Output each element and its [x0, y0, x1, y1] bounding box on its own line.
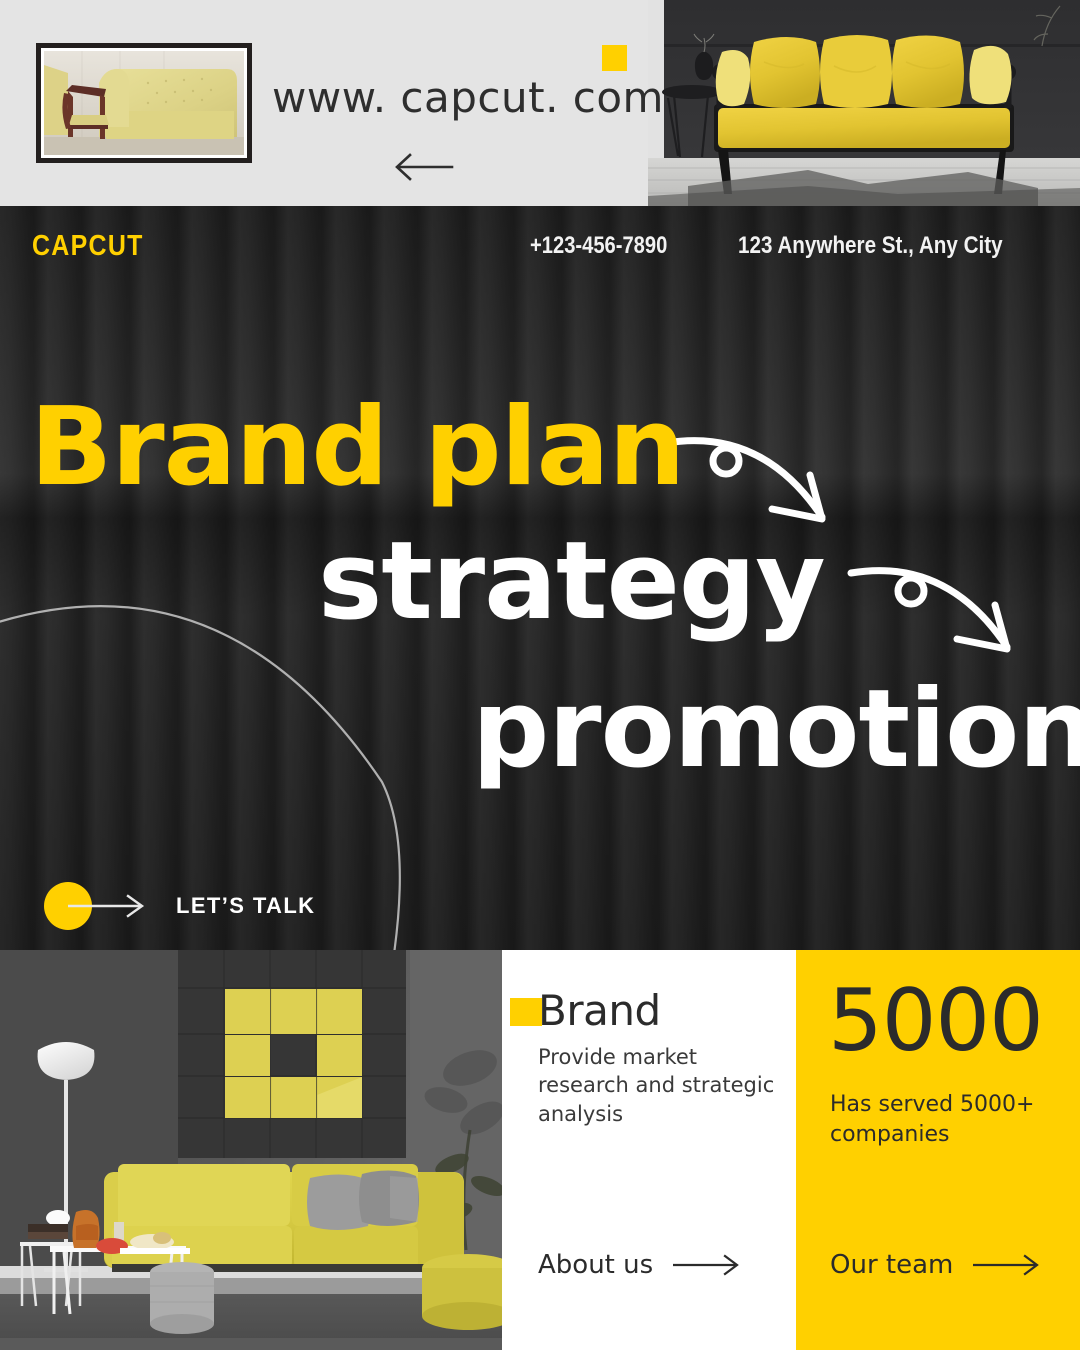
armchair-thumbnail-image: [44, 51, 244, 155]
thumbnail-frame: [36, 43, 252, 163]
living-room-image: [0, 950, 502, 1350]
top-banner: www. capcut. com: [0, 0, 648, 206]
our-team-button[interactable]: Our team: [830, 1250, 1045, 1280]
yellow-accent-square-small: [602, 45, 627, 71]
brand-card-description: Provide market research and strategic an…: [538, 1043, 780, 1128]
brand-card-title: Brand: [538, 986, 661, 1035]
sofa-header-svg: [648, 0, 1080, 206]
left-arrow-icon[interactable]: [390, 150, 460, 184]
about-us-button[interactable]: About us: [538, 1250, 745, 1280]
hero-section: CAPCUT +123-456-7890 123 Anywhere St., A…: [0, 206, 1080, 950]
headline-line-1: Brand plan: [30, 394, 684, 502]
about-us-label: About us: [538, 1250, 653, 1280]
lets-talk-label: LET’S TALK: [176, 893, 315, 919]
poster-canvas: www. capcut. com: [0, 0, 1080, 1350]
stat-number: 5000: [828, 978, 1043, 1064]
arrow-right-icon: [671, 1254, 745, 1276]
stat-description: Has served 5000+ companies: [830, 1090, 1050, 1149]
lets-talk-button[interactable]: LET’S TALK: [44, 879, 315, 933]
arrow-right-icon: [971, 1254, 1045, 1276]
stat-card: 5000 Has served 5000+ companies Our team: [796, 950, 1080, 1350]
headline-line-2: strategy: [318, 528, 825, 636]
sofa-header-image: [648, 0, 1080, 206]
contact-phone[interactable]: +123-456-7890: [530, 232, 667, 260]
right-arrow-icon: [66, 893, 152, 919]
hero-contact-bar: CAPCUT +123-456-7890 123 Anywhere St., A…: [0, 230, 1080, 276]
brand-logo[interactable]: CAPCUT: [32, 230, 144, 263]
contact-address[interactable]: 123 Anywhere St., Any City: [738, 232, 1003, 260]
curved-arrow-icon-2: [845, 551, 1080, 661]
our-team-label: Our team: [830, 1250, 953, 1280]
website-url[interactable]: www. capcut. com: [272, 73, 664, 122]
brand-info-card: Brand Provide market research and strate…: [502, 950, 796, 1350]
thumbnail-mat: [41, 48, 247, 158]
curved-arrow-icon-1: [660, 421, 1020, 531]
headline-line-3: promotion: [472, 676, 1080, 784]
living-room-svg: [0, 950, 502, 1350]
armchair-thumbnail-svg: [44, 51, 244, 155]
